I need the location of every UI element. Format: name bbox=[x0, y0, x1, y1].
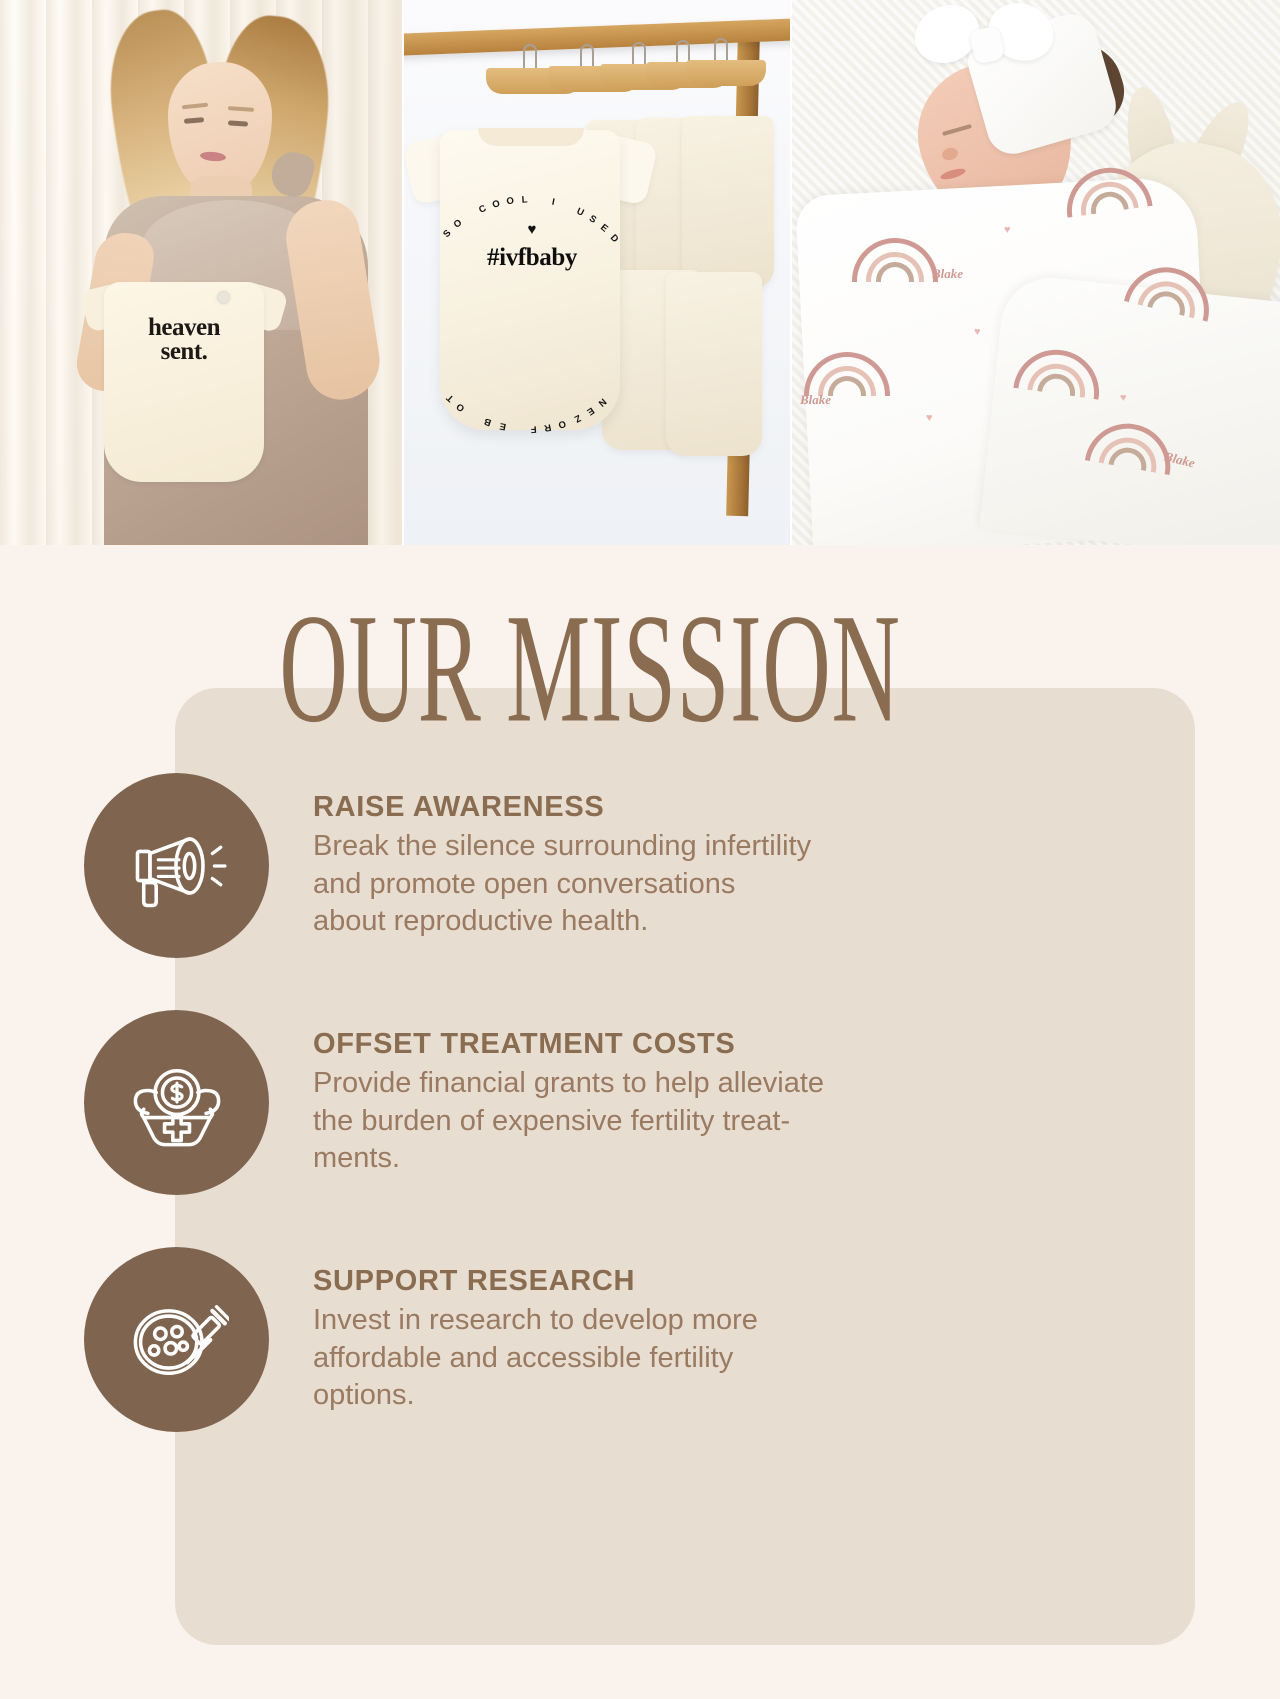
mission-item-text: SUPPORT RESEARCH Invest in research to d… bbox=[313, 1247, 758, 1415]
face bbox=[168, 62, 272, 194]
wooden-hanger bbox=[686, 60, 766, 86]
onesie-collar bbox=[478, 128, 584, 146]
megaphone-icon bbox=[84, 773, 269, 958]
ivfbaby-print: SO COOL I USED ♥ #ivfbaby TO BE FROZEN bbox=[464, 188, 600, 324]
photo-onesies-on-hangers: SO COOL I USED ♥ #ivfbaby TO BE FROZEN bbox=[404, 0, 790, 545]
mission-item-offset-treatment-costs: OFFSET TREATMENT COSTS Provide financial… bbox=[0, 1010, 1180, 1195]
onesie-print-line1: heaven bbox=[110, 316, 258, 340]
onesie-background-3 bbox=[682, 116, 774, 288]
mission-item-support-research: SUPPORT RESEARCH Invest in research to d… bbox=[0, 1247, 1180, 1432]
blanket-name-print: Blake bbox=[932, 266, 963, 282]
swaddle-blanket-fold bbox=[979, 273, 1280, 545]
mission-item-body: Break the silence surrounding infertilit… bbox=[313, 828, 811, 941]
mission-item-body: Invest in research to develop more affor… bbox=[313, 1302, 758, 1415]
mission-item-raise-awareness: RAISE AWARENESS Break the silence surrou… bbox=[0, 773, 1180, 958]
onesie-print: heaven sent. bbox=[110, 316, 258, 364]
mission-items-list: RAISE AWARENESS Break the silence surrou… bbox=[0, 773, 1180, 1484]
mission-section: OUR MISSION RAISE AWARENESS bbox=[0, 545, 1280, 1699]
photo-strip: heaven sent. bbox=[0, 0, 1280, 545]
print-arc-bottom: TO BE FROZEN bbox=[464, 188, 600, 324]
hanger-hook bbox=[523, 44, 537, 70]
onesie-print-line2: sent. bbox=[110, 340, 258, 364]
mission-item-heading: OFFSET TREATMENT COSTS bbox=[313, 1028, 824, 1061]
money-coin-medical-cross-icon bbox=[84, 1010, 269, 1195]
mission-item-text: OFFSET TREATMENT COSTS Provide financial… bbox=[313, 1010, 824, 1178]
page-root: heaven sent. bbox=[0, 0, 1280, 1699]
blanket-name-print: Blake bbox=[800, 392, 831, 408]
mission-item-heading: SUPPORT RESEARCH bbox=[313, 1265, 758, 1298]
onesie-garment bbox=[104, 282, 264, 482]
onesie-background-5 bbox=[666, 272, 762, 456]
ring bbox=[218, 292, 229, 303]
mission-item-heading: RAISE AWARENESS bbox=[313, 791, 811, 824]
photo-pregnant-woman-holding-onesie: heaven sent. bbox=[0, 0, 402, 545]
mission-item-text: RAISE AWARENESS Break the silence surrou… bbox=[313, 773, 811, 941]
mission-item-body: Provide financial grants to help allevia… bbox=[313, 1065, 824, 1178]
photo-newborn-in-swaddle: Blake Blake Blake ♥ ♥ ♥ ♥ bbox=[792, 0, 1280, 545]
petri-dish-syringe-icon bbox=[84, 1247, 269, 1432]
page-title: OUR MISSION bbox=[153, 590, 1026, 746]
